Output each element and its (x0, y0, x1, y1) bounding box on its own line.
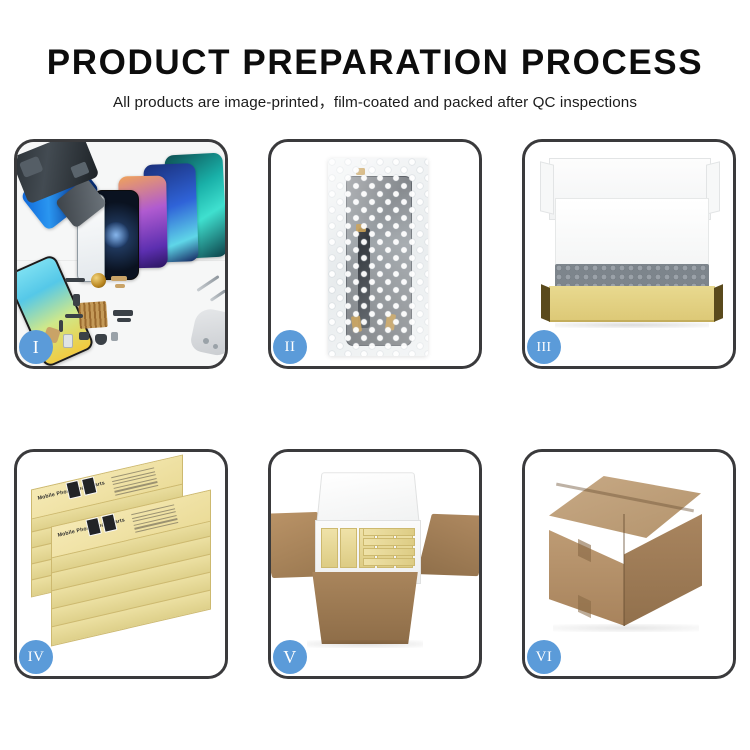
spare-part-contact (115, 284, 125, 288)
carton-front-panel (305, 572, 425, 644)
process-step-panel-3[interactable]: III (522, 139, 736, 369)
bubble-wrap-package (328, 158, 428, 356)
step-6-image (525, 452, 733, 676)
plastic-sheen (328, 158, 428, 356)
process-step-panel-4[interactable]: Mobile Phone Spare Parts Mobile Phone Sp… (14, 449, 228, 679)
step-1-image (17, 142, 225, 366)
page-title: PRODUCT PREPARATION PROCESS (0, 0, 750, 84)
spare-part-clip (73, 294, 80, 306)
step-4-image: Mobile Phone Spare Parts Mobile Phone Sp… (17, 452, 225, 676)
spare-part-sim-tray (63, 334, 73, 348)
bubble-padding-layer (555, 264, 709, 288)
process-step-panel-6[interactable]: VI (522, 449, 736, 679)
page-subtitle: All products are image-printed，film-coat… (0, 84, 750, 113)
step-3-image (525, 142, 733, 366)
kraft-box-front (549, 286, 715, 322)
foam-sheet (555, 198, 709, 268)
spare-part-flex-cable (113, 310, 133, 316)
packed-retail-boxes-flat (363, 528, 415, 568)
box-shadow (555, 322, 709, 328)
process-step-panel-1[interactable]: I (14, 139, 228, 369)
step-2-image (271, 142, 479, 366)
spare-part-strip (65, 278, 85, 282)
carton-shadow (553, 624, 699, 632)
spare-part-ribbon (117, 318, 131, 322)
styrofoam-lid (316, 472, 420, 524)
speaker-coil-icon (91, 273, 106, 288)
screw-icon (203, 338, 209, 344)
stacked-retail-boxes: Mobile Phone Spare Parts Mobile Phone Sp… (25, 468, 223, 658)
page-header: PRODUCT PREPARATION PROCESS All products… (0, 0, 750, 113)
spare-part-button (79, 332, 89, 340)
step-badge-6: VI (527, 640, 561, 674)
step-badge-2: II (273, 330, 307, 364)
carton-shadow (307, 640, 423, 648)
step-badge-1: I (19, 330, 53, 364)
process-step-panel-2[interactable]: II (268, 139, 482, 369)
step-badge-5: V (273, 640, 307, 674)
step-5-image (271, 452, 479, 676)
step-badge-3: III (527, 330, 561, 364)
spare-part-connector (111, 276, 127, 281)
process-steps-grid: I II III (14, 139, 736, 679)
spare-part-bracket (65, 314, 83, 318)
process-step-panel-5[interactable]: V (268, 449, 482, 679)
spare-part-vibrator (111, 332, 118, 341)
step-badge-4: IV (19, 640, 53, 674)
carton-edge (623, 514, 625, 626)
screw-icon (213, 344, 218, 349)
